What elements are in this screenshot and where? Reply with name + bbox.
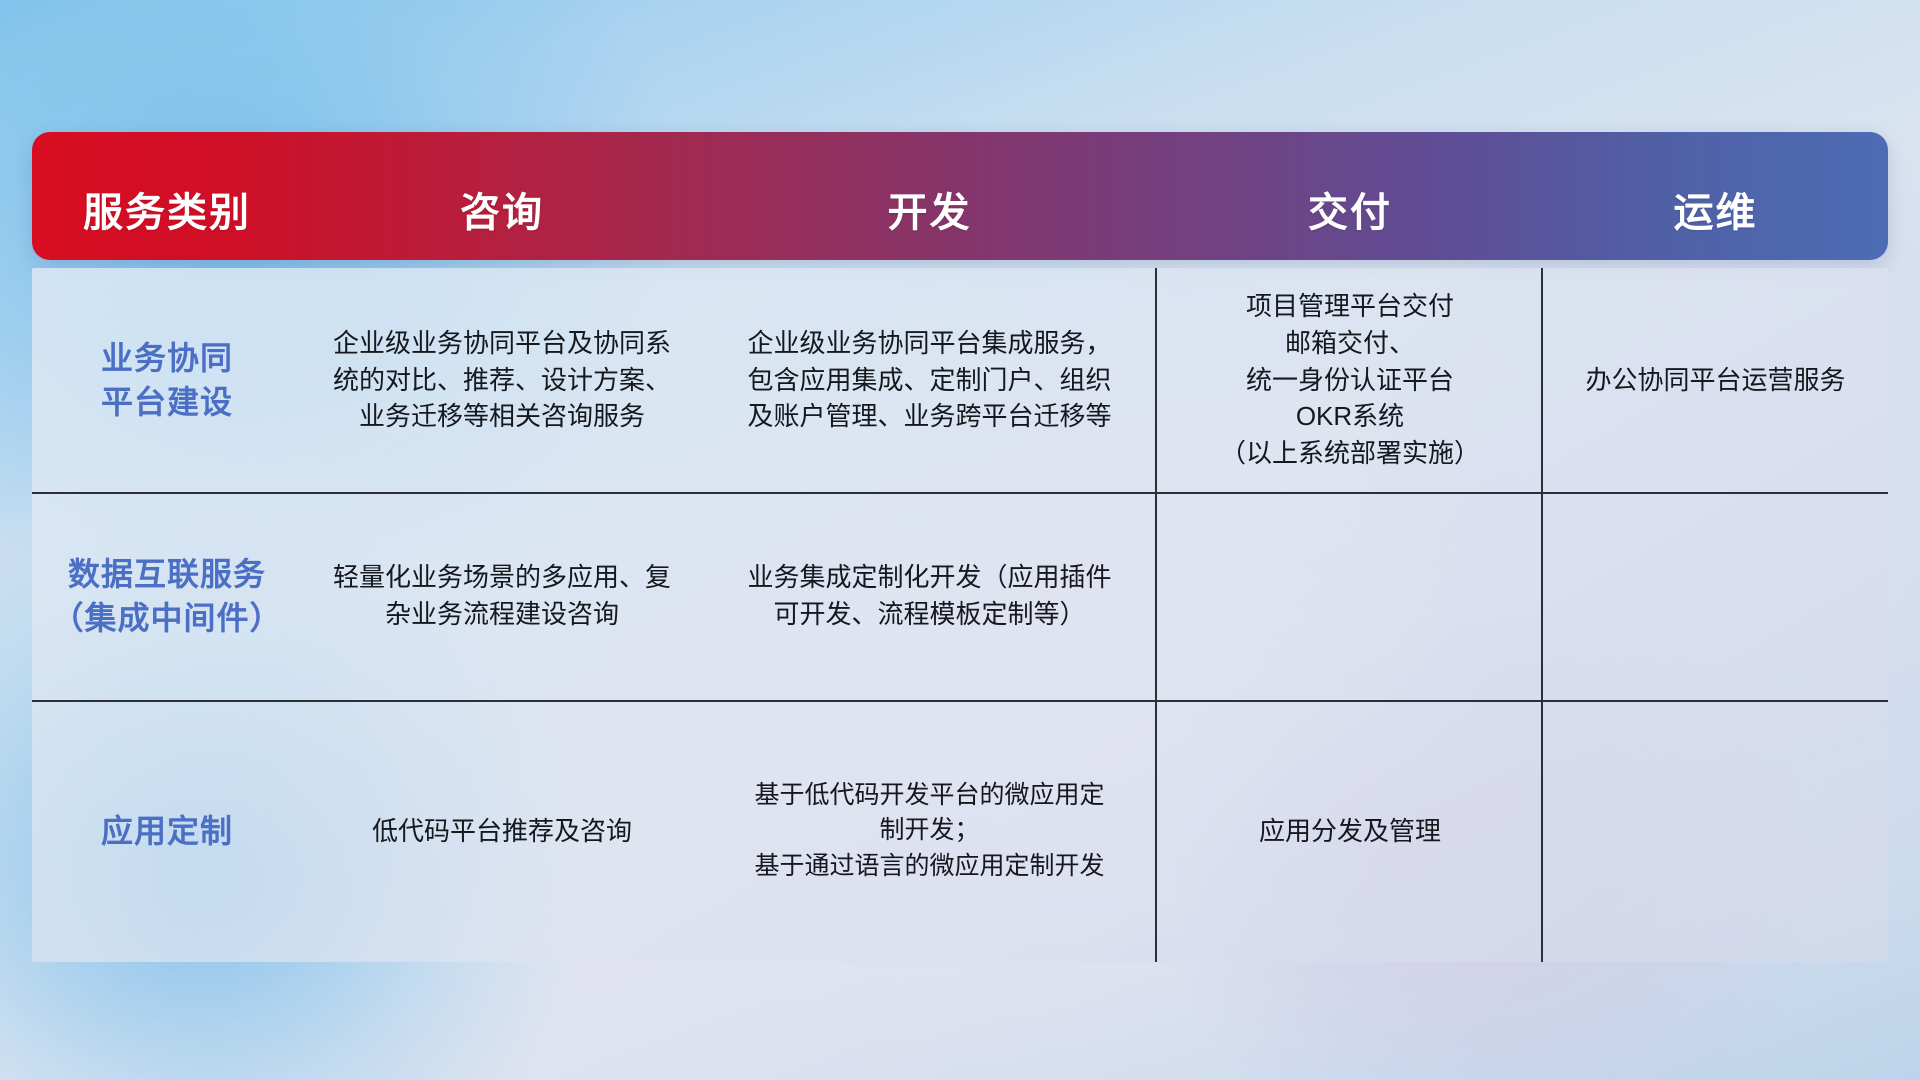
cell-text: 基于低代码开发平台的微应用定 制开发； 基于通过语言的微应用定制开发 xyxy=(754,778,1104,885)
table-row: 数据互联服务 （集成中间件） 轻量化业务场景的多应用、复 杂业务流程建设咨询 业… xyxy=(32,492,1888,700)
cell-category: 数据互联服务 （集成中间件） xyxy=(32,492,302,700)
column-header-service-category: 服务类别 xyxy=(32,180,302,260)
cell-operations: 办公协同平台运营服务 xyxy=(1543,268,1888,492)
cell-category: 业务协同 平台建设 xyxy=(32,268,302,492)
service-matrix-table: 服务类别 咨询 开发 交付 运维 业务协同 平台建设 企业级业务协同平台及协同系… xyxy=(32,132,1888,962)
cell-development: 企业级业务协同平台集成服务， 包含应用集成、定制门户、组织 及账户管理、业务跨平… xyxy=(702,268,1157,492)
category-label: 数据互联服务 （集成中间件） xyxy=(51,552,282,640)
cell-consulting: 企业级业务协同平台及协同系 统的对比、推荐、设计方案、 业务迁移等相关咨询服务 xyxy=(302,268,702,492)
cell-text: 应用分发及管理 xyxy=(1259,813,1441,850)
category-label: 业务协同 平台建设 xyxy=(101,336,233,424)
cell-consulting: 轻量化业务场景的多应用、复 杂业务流程建设咨询 xyxy=(302,492,702,700)
cell-consulting: 低代码平台推荐及咨询 xyxy=(302,700,702,962)
cell-delivery xyxy=(1157,492,1543,700)
cell-development: 业务集成定制化开发（应用插件 可开发、流程模板定制等） xyxy=(702,492,1157,700)
cell-development: 基于低代码开发平台的微应用定 制开发； 基于通过语言的微应用定制开发 xyxy=(702,700,1157,962)
column-header-operations: 运维 xyxy=(1543,180,1888,260)
cell-operations xyxy=(1543,492,1888,700)
table-row: 业务协同 平台建设 企业级业务协同平台及协同系 统的对比、推荐、设计方案、 业务… xyxy=(32,268,1888,492)
column-header-consulting: 咨询 xyxy=(302,180,702,260)
cell-text: 项目管理平台交付 邮箱交付、 统一身份认证平台 OKR系统 （以上系统部署实施） xyxy=(1220,288,1480,473)
column-header-delivery: 交付 xyxy=(1157,180,1543,260)
cell-text: 企业级业务协同平台集成服务， 包含应用集成、定制门户、组织 及账户管理、业务跨平… xyxy=(747,325,1111,436)
cell-text: 低代码平台推荐及咨询 xyxy=(372,813,632,850)
cell-delivery: 应用分发及管理 xyxy=(1157,700,1543,962)
column-header-development: 开发 xyxy=(702,180,1157,260)
table-header-row: 服务类别 咨询 开发 交付 运维 xyxy=(32,132,1888,260)
table-body: 业务协同 平台建设 企业级业务协同平台及协同系 统的对比、推荐、设计方案、 业务… xyxy=(32,268,1888,962)
cell-text: 办公协同平台运营服务 xyxy=(1585,362,1845,399)
cell-text: 轻量化业务场景的多应用、复 杂业务流程建设咨询 xyxy=(333,559,671,633)
cell-operations xyxy=(1543,700,1888,962)
cell-category: 应用定制 xyxy=(32,700,302,962)
table-row: 应用定制 低代码平台推荐及咨询 基于低代码开发平台的微应用定 制开发； 基于通过… xyxy=(32,700,1888,962)
cell-text: 业务集成定制化开发（应用插件 可开发、流程模板定制等） xyxy=(747,559,1111,633)
cell-text: 企业级业务协同平台及协同系 统的对比、推荐、设计方案、 业务迁移等相关咨询服务 xyxy=(333,325,671,436)
category-label: 应用定制 xyxy=(101,809,233,853)
cell-delivery: 项目管理平台交付 邮箱交付、 统一身份认证平台 OKR系统 （以上系统部署实施） xyxy=(1157,268,1543,492)
